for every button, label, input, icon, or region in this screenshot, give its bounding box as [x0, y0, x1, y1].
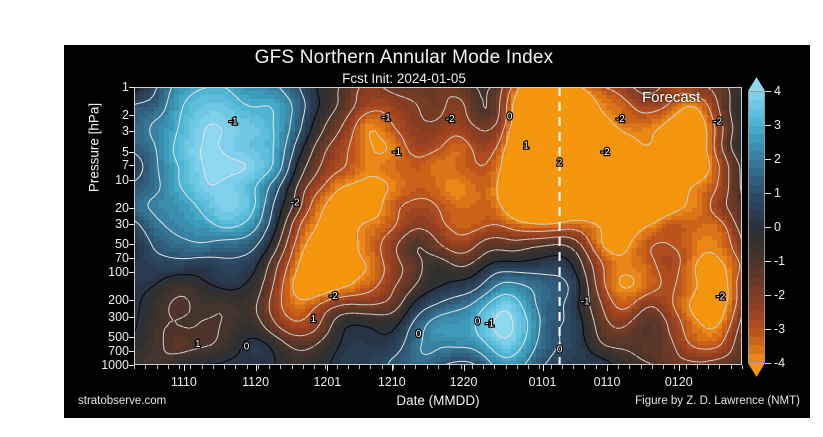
x-minor-tick [506, 365, 507, 369]
x-minor-tick [652, 365, 653, 369]
x-minor-tick [483, 365, 484, 369]
colorbar-segment [749, 134, 764, 142]
x-minor-tick [517, 365, 518, 369]
x-minor-tick [573, 365, 574, 369]
colorbar-segment [749, 193, 764, 201]
colorbar-segment [749, 320, 764, 328]
colorbar-segment [749, 354, 764, 362]
x-tick-label: 0101 [529, 375, 557, 389]
x-minor-tick [494, 365, 495, 369]
x-tick-label: 1210 [378, 375, 406, 389]
x-minor-tick [607, 365, 608, 369]
colorbar-segment [749, 286, 764, 294]
x-minor-tick [427, 365, 428, 369]
x-tick-label: 1120 [242, 375, 269, 389]
x-minor-tick [157, 365, 158, 369]
x-minor-tick [134, 365, 135, 369]
y-tick-label: 2 [122, 108, 129, 122]
y-tick-label: 30 [115, 217, 129, 231]
colorbar-tick-label: 2 [774, 152, 781, 166]
figure-root: GFS Northern Annular Mode Index Fcst Ini… [0, 0, 823, 437]
x-minor-tick [415, 365, 416, 369]
x-minor-tick [224, 365, 225, 369]
colorbar-segment [749, 210, 764, 218]
colorbar: 43210-1-2-3-4 [748, 77, 806, 377]
x-minor-tick [370, 365, 371, 369]
colorbar-segment [749, 219, 764, 227]
y-tick-label: 10 [115, 173, 129, 187]
colorbar-tick-mark [765, 227, 771, 228]
colorbar-tick-mark [765, 193, 771, 194]
x-minor-tick [337, 365, 338, 369]
colorbar-tick-mark [765, 125, 771, 126]
x-minor-tick [461, 365, 462, 369]
x-minor-tick [686, 365, 687, 369]
x-minor-tick [325, 365, 326, 369]
colorbar-tick-mark [765, 261, 771, 262]
contour-svg: -1-1-1-2-20-2-2-2-2-10-100101-221 [134, 87, 742, 365]
x-minor-tick [247, 365, 248, 369]
y-tick-label: 50 [115, 237, 129, 251]
colorbar-segment [749, 160, 764, 168]
x-minor-tick [472, 365, 473, 369]
x-tick-mark [327, 365, 328, 371]
x-tick-mark [543, 365, 544, 371]
x-minor-tick [719, 365, 720, 369]
x-minor-tick [584, 365, 585, 369]
figure-canvas: GFS Northern Annular Mode Index Fcst Ini… [64, 45, 810, 418]
x-minor-tick [280, 365, 281, 369]
colorbar-segment [749, 151, 764, 159]
x-minor-tick [145, 365, 146, 369]
colorbar-extend-bottom-icon [748, 363, 765, 377]
colorbar-segment [749, 202, 764, 210]
x-minor-tick [314, 365, 315, 369]
colorbar-tick-label: 1 [774, 186, 781, 200]
y-tick-label: 70 [115, 251, 129, 265]
x-minor-tick [697, 365, 698, 369]
colorbar-segment [749, 345, 764, 353]
x-minor-tick [359, 365, 360, 369]
y-tick-label: 20 [115, 201, 129, 215]
colorbar-segment [749, 109, 764, 117]
colorbar-segment [749, 328, 764, 336]
x-minor-tick [292, 365, 293, 369]
forecast-annotation: Forecast [642, 89, 700, 106]
x-tick-label: 0120 [665, 375, 693, 389]
x-minor-tick [258, 365, 259, 369]
colorbar-segment [749, 176, 764, 184]
colorbar-segment [749, 278, 764, 286]
x-minor-tick [179, 365, 180, 369]
y-tick-label: 7 [122, 158, 129, 172]
colorbar-segment [749, 117, 764, 125]
x-minor-tick [438, 365, 439, 369]
x-tick-label: 0110 [594, 375, 621, 389]
y-tick-label: 1 [122, 80, 129, 94]
x-minor-tick [202, 365, 203, 369]
x-minor-tick [213, 365, 214, 369]
colorbar-tick-mark [765, 91, 771, 92]
colorbar-segment [749, 143, 764, 151]
x-minor-tick [731, 365, 732, 369]
y-tick-label: 300 [108, 310, 129, 324]
contour-plot-area: -1-1-1-2-20-2-2-2-2-10-100101-221 [134, 87, 742, 365]
author-credit: Figure by Z. D. Lawrence (NMT) [635, 395, 800, 407]
x-minor-tick [742, 365, 743, 369]
colorbar-segment [749, 227, 764, 235]
y-tick-label: 100 [108, 265, 129, 279]
x-minor-tick [708, 365, 709, 369]
x-minor-tick [551, 365, 552, 369]
x-minor-tick [393, 365, 394, 369]
x-tick-mark [464, 365, 465, 371]
x-minor-tick [641, 365, 642, 369]
colorbar-tick-mark [765, 329, 771, 330]
colorbar-tick-label: 0 [774, 220, 781, 234]
colorbar-segment [749, 185, 764, 193]
x-minor-tick [618, 365, 619, 369]
y-tick-label: 700 [108, 344, 129, 358]
x-minor-tick [382, 365, 383, 369]
x-minor-tick [562, 365, 563, 369]
y-axis-ticks: 1235710203050701002003005007001000 [64, 87, 129, 365]
y-tick-label: 500 [108, 330, 129, 344]
x-minor-tick [348, 365, 349, 369]
colorbar-segment [749, 269, 764, 277]
colorbar-tick-mark [765, 159, 771, 160]
colorbar-tick-label: 3 [774, 118, 781, 132]
colorbar-segment [749, 252, 764, 260]
colorbar-tick-label: -3 [774, 322, 785, 336]
colorbar-segment [749, 244, 764, 252]
colorbar-extend-top-icon [748, 77, 765, 91]
colorbar-segment [749, 337, 764, 345]
x-minor-tick [663, 365, 664, 369]
colorbar-tick-label: 4 [774, 84, 781, 98]
colorbar-segment [749, 303, 764, 311]
y-tick-label: 200 [108, 293, 129, 307]
source-credit: stratobserve.com [78, 395, 166, 407]
colorbar-tick-label: -1 [774, 254, 785, 268]
colorbar-segment [749, 235, 764, 243]
colorbar-segment [749, 100, 764, 108]
x-tick-label: 1201 [313, 375, 341, 389]
colorbar-segment [749, 261, 764, 269]
figure-subtitle: Fcst Init: 2024-01-05 [64, 71, 744, 86]
x-minor-tick [168, 365, 169, 369]
x-minor-tick [235, 365, 236, 369]
x-minor-tick [449, 365, 450, 369]
x-minor-tick [303, 365, 304, 369]
x-tick-label: 1220 [450, 375, 478, 389]
colorbar-tick-mark [765, 295, 771, 296]
colorbar-segment [749, 311, 764, 319]
x-minor-tick [674, 365, 675, 369]
y-tick-label: 1000 [101, 358, 129, 372]
colorbar-tick-label: -2 [774, 288, 785, 302]
x-minor-tick [528, 365, 529, 369]
x-minor-tick [629, 365, 630, 369]
x-tick-mark [256, 365, 257, 371]
colorbar-segment [749, 92, 764, 100]
colorbar-tick-label: -4 [774, 356, 785, 370]
y-tick-label: 3 [122, 124, 129, 138]
x-tick-mark [679, 365, 680, 371]
x-tick-label: 1110 [171, 375, 197, 389]
colorbar-gradient [748, 91, 765, 363]
colorbar-segment [749, 126, 764, 134]
x-minor-tick [190, 365, 191, 369]
y-tick-label: 5 [122, 145, 129, 159]
page-title: GFS Northern Annular Mode Index [64, 47, 744, 69]
x-minor-tick [404, 365, 405, 369]
x-minor-tick [269, 365, 270, 369]
x-minor-tick [596, 365, 597, 369]
colorbar-tick-mark [765, 363, 771, 364]
colorbar-segment [749, 295, 764, 303]
x-tick-mark [184, 365, 185, 371]
x-minor-tick [539, 365, 540, 369]
colorbar-segment [749, 168, 764, 176]
